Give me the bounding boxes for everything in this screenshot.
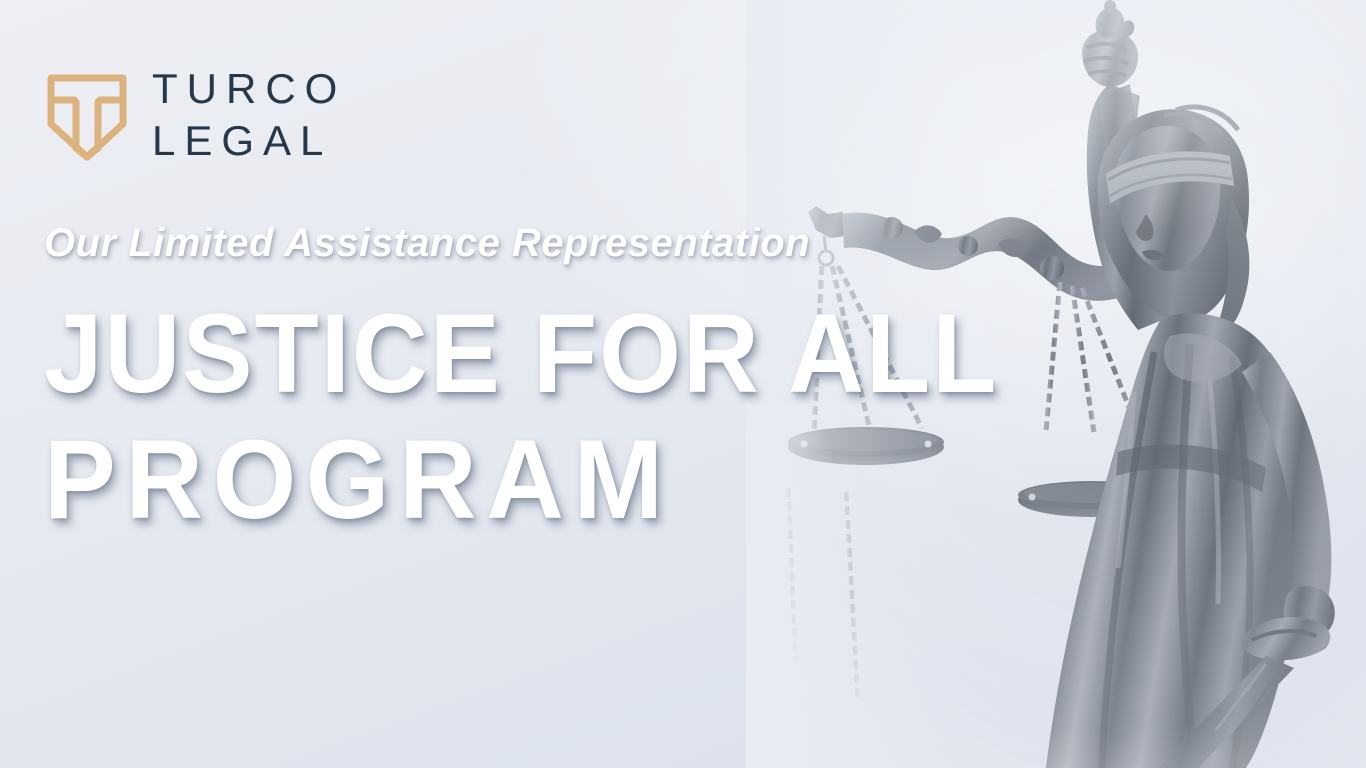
hero-headline-line-1: JUSTICE FOR ALL [44,300,1040,408]
logo-lockup[interactable]: TURCO LEGAL [46,66,346,162]
hero-eyebrow: Our Limited Assistance Representation [44,222,1104,264]
shield-t-monogram-icon [46,66,128,162]
hero-text-block: Our Limited Assistance Representation JU… [44,222,1104,533]
hero-headline-line-2: PROGRAM [44,426,1062,534]
hero-banner: TURCO LEGAL Our Limited Assistance Repre… [0,0,1366,768]
logo-wordmark-line-1: TURCO [152,68,346,110]
logo-wordmark: TURCO LEGAL [152,66,346,162]
logo-wordmark-line-2: LEGAL [152,120,346,162]
